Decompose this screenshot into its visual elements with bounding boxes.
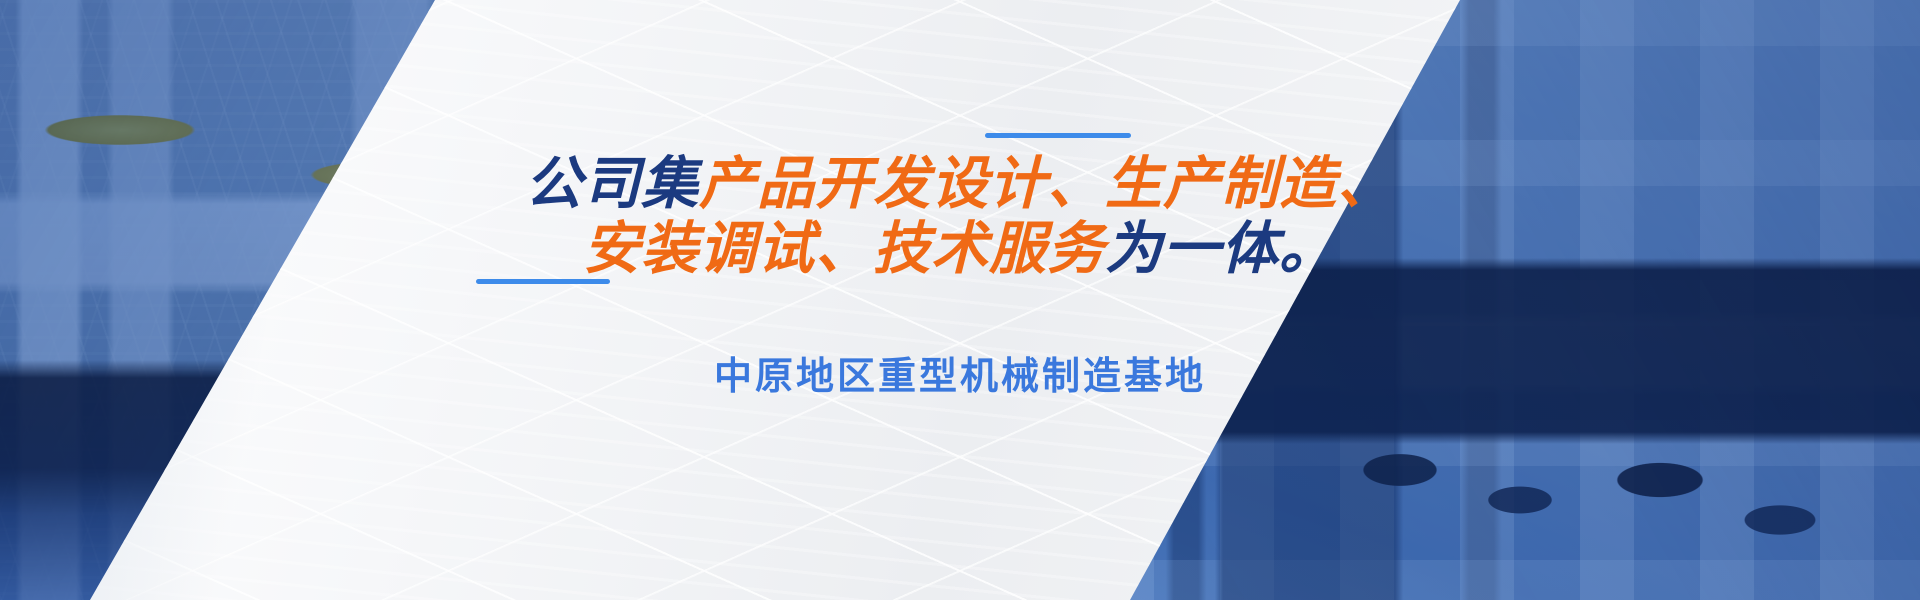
accent-rule-bottom: [476, 279, 610, 284]
headline-line1-navy-text: 公司集: [525, 152, 699, 216]
headline-line-1: 公司集产品开发设计、生产制造、: [0, 148, 1920, 220]
banner-subtitle: 中原地区重型机械制造基地: [0, 345, 1920, 400]
headline-line1-orange-text: 产品开发设计、生产制造、: [699, 152, 1395, 216]
headline-line2-orange-text: 安装调试、技术服务: [583, 217, 1105, 281]
banner-content: 公司集产品开发设计、生产制造、 安装调试、技术服务为一体。 中原地区重型机械制造…: [0, 0, 1920, 600]
accent-rule-top: [985, 133, 1131, 138]
headline-line-2: 安装调试、技术服务为一体。: [0, 213, 1920, 285]
headline-line2-navy-text: 为一体。: [1105, 217, 1337, 281]
hero-banner: 公司集产品开发设计、生产制造、 安装调试、技术服务为一体。 中原地区重型机械制造…: [0, 0, 1920, 600]
